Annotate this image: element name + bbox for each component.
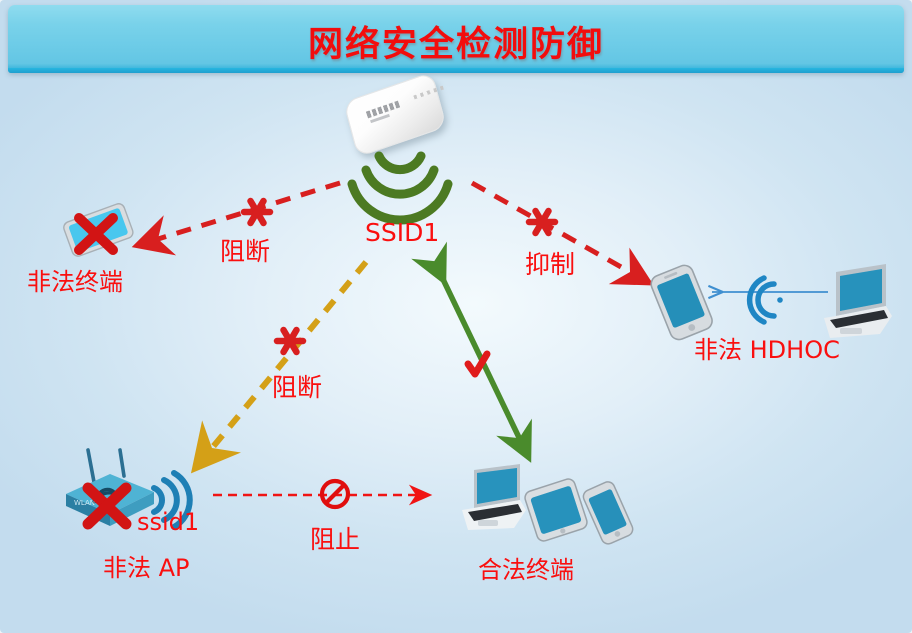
laptop-icon xyxy=(824,264,892,338)
smartphone-icon xyxy=(581,480,635,546)
ap-signal-waves-icon xyxy=(330,132,470,206)
ap-ssid-label: SSID1 xyxy=(365,218,439,247)
edge-block-rogue-ap xyxy=(212,262,366,448)
illegal-terminal-label: 非法终端 xyxy=(27,262,123,297)
red-asterisk-icon xyxy=(529,211,555,233)
red-asterisk-icon xyxy=(277,330,303,352)
diagram-canvas: 网络安全检测防御 xyxy=(0,0,912,633)
adhoc-label: 非法 HDHOC xyxy=(694,330,840,365)
red-check-icon xyxy=(468,354,487,374)
red-asterisk-icon xyxy=(244,201,270,223)
edge-block-terminal xyxy=(158,183,340,239)
edge-label-prevent-assoc: 阻止 xyxy=(310,520,360,556)
tablet-icon xyxy=(523,477,589,543)
edge-label-block-rogue-ap: 阻断 xyxy=(272,368,322,404)
rogue-ap-label: 非法 AP xyxy=(103,548,190,583)
legit-terminals-group[interactable] xyxy=(450,462,640,546)
no-entry-icon xyxy=(322,481,348,507)
illegal-terminal-icon[interactable] xyxy=(52,198,144,260)
wifi-arc-icon xyxy=(750,278,783,322)
edge-prevent-assoc xyxy=(213,481,418,507)
title-bar: 网络安全检测防御 xyxy=(8,5,904,73)
edge-allow-legit xyxy=(440,273,525,450)
svg-text:WLAN: WLAN xyxy=(74,499,95,507)
rogue-ap-ssid-label: ssid1 xyxy=(137,508,199,536)
page-title: 网络安全检测防御 xyxy=(8,16,904,67)
edge-label-suppress-adhoc: 抑制 xyxy=(525,245,575,281)
laptop-icon xyxy=(462,464,526,530)
legit-terminals-label: 合法终端 xyxy=(478,550,574,585)
edge-label-block-terminal: 阻断 xyxy=(220,232,270,268)
